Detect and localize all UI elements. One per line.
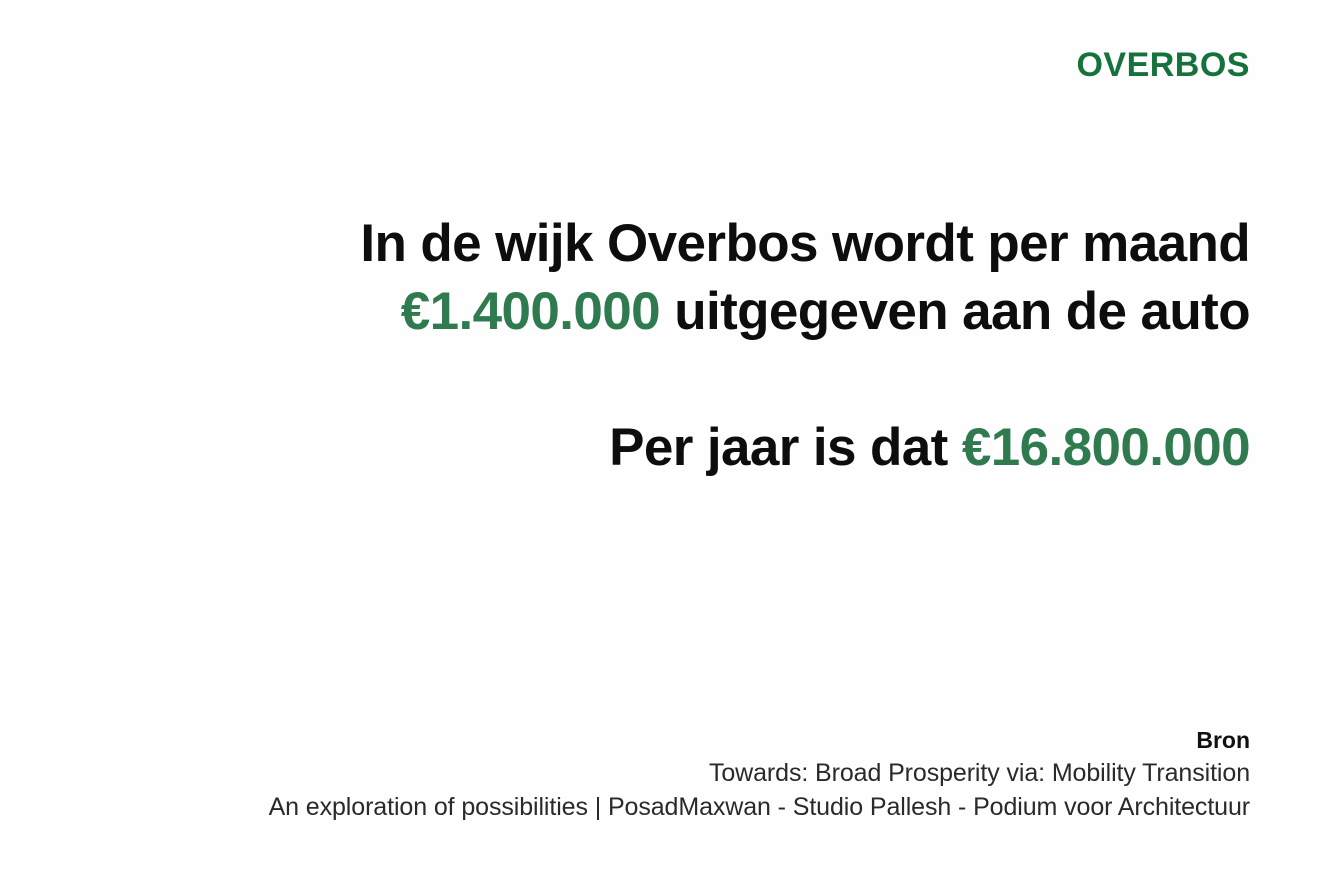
- statement-line-2: €1.400.000 uitgegeven aan de auto: [70, 278, 1250, 346]
- yearly-amount-value: €16.800.000: [962, 418, 1250, 477]
- statement-line-1: In de wijk Overbos wordt per maand: [70, 210, 1250, 278]
- monthly-amount-suffix: uitgegeven aan de auto: [660, 282, 1250, 341]
- statement-block: In de wijk Overbos wordt per maand €1.40…: [70, 210, 1250, 482]
- statement-line-3: Per jaar is dat €16.800.000: [70, 414, 1250, 482]
- source-block: Bron Towards: Broad Prosperity via: Mobi…: [70, 724, 1250, 824]
- source-line-1: Towards: Broad Prosperity via: Mobility …: [70, 756, 1250, 790]
- source-line-2: An exploration of possibilities | PosadM…: [70, 790, 1250, 824]
- slide-canvas: OVERBOS In de wijk Overbos wordt per maa…: [0, 0, 1320, 880]
- yearly-amount-prefix: Per jaar is dat: [609, 418, 962, 477]
- brand-header: OVERBOS: [0, 48, 1250, 82]
- monthly-amount-value: €1.400.000: [401, 282, 660, 341]
- brand-wordmark: OVERBOS: [1076, 48, 1250, 82]
- source-title: Bron: [70, 724, 1250, 756]
- statement-spacer: [70, 346, 1250, 414]
